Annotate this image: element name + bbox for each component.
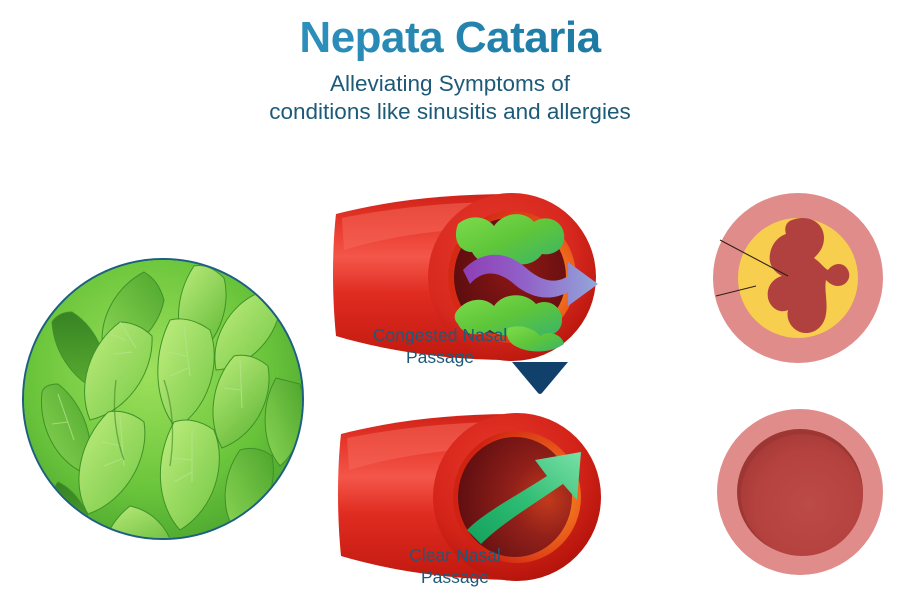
subtitle-line-2: conditions like sinusitis and allergies: [0, 98, 900, 127]
down-chevron-icon: [512, 362, 568, 394]
open-passage-cross-section-icon: [716, 408, 884, 576]
clear-label-line-1: Clear Nasal: [340, 545, 570, 567]
blocked-cross-section-shape: [712, 192, 884, 364]
cross-open-lumen: [741, 434, 863, 556]
congested-label-line-1: Congested Nasal: [325, 325, 555, 347]
clear-passage-label: Clear Nasal Passage: [340, 545, 570, 589]
page-title: Nepata Cataria: [0, 0, 900, 62]
clear-label-line-2: Passage: [340, 567, 570, 589]
page-subtitle: Alleviating Symptoms of conditions like …: [0, 70, 900, 128]
blocked-passage-cross-section-icon: [712, 192, 884, 364]
subtitle-line-1: Alleviating Symptoms of: [0, 70, 900, 99]
down-chevron-shape: [512, 362, 568, 394]
header: Nepata Cataria Alleviating Symptoms of c…: [0, 0, 900, 127]
open-cross-section-shape: [716, 408, 884, 576]
catnip-leaves-illustration: [24, 260, 302, 538]
catnip-leaves-photo: [22, 258, 304, 540]
